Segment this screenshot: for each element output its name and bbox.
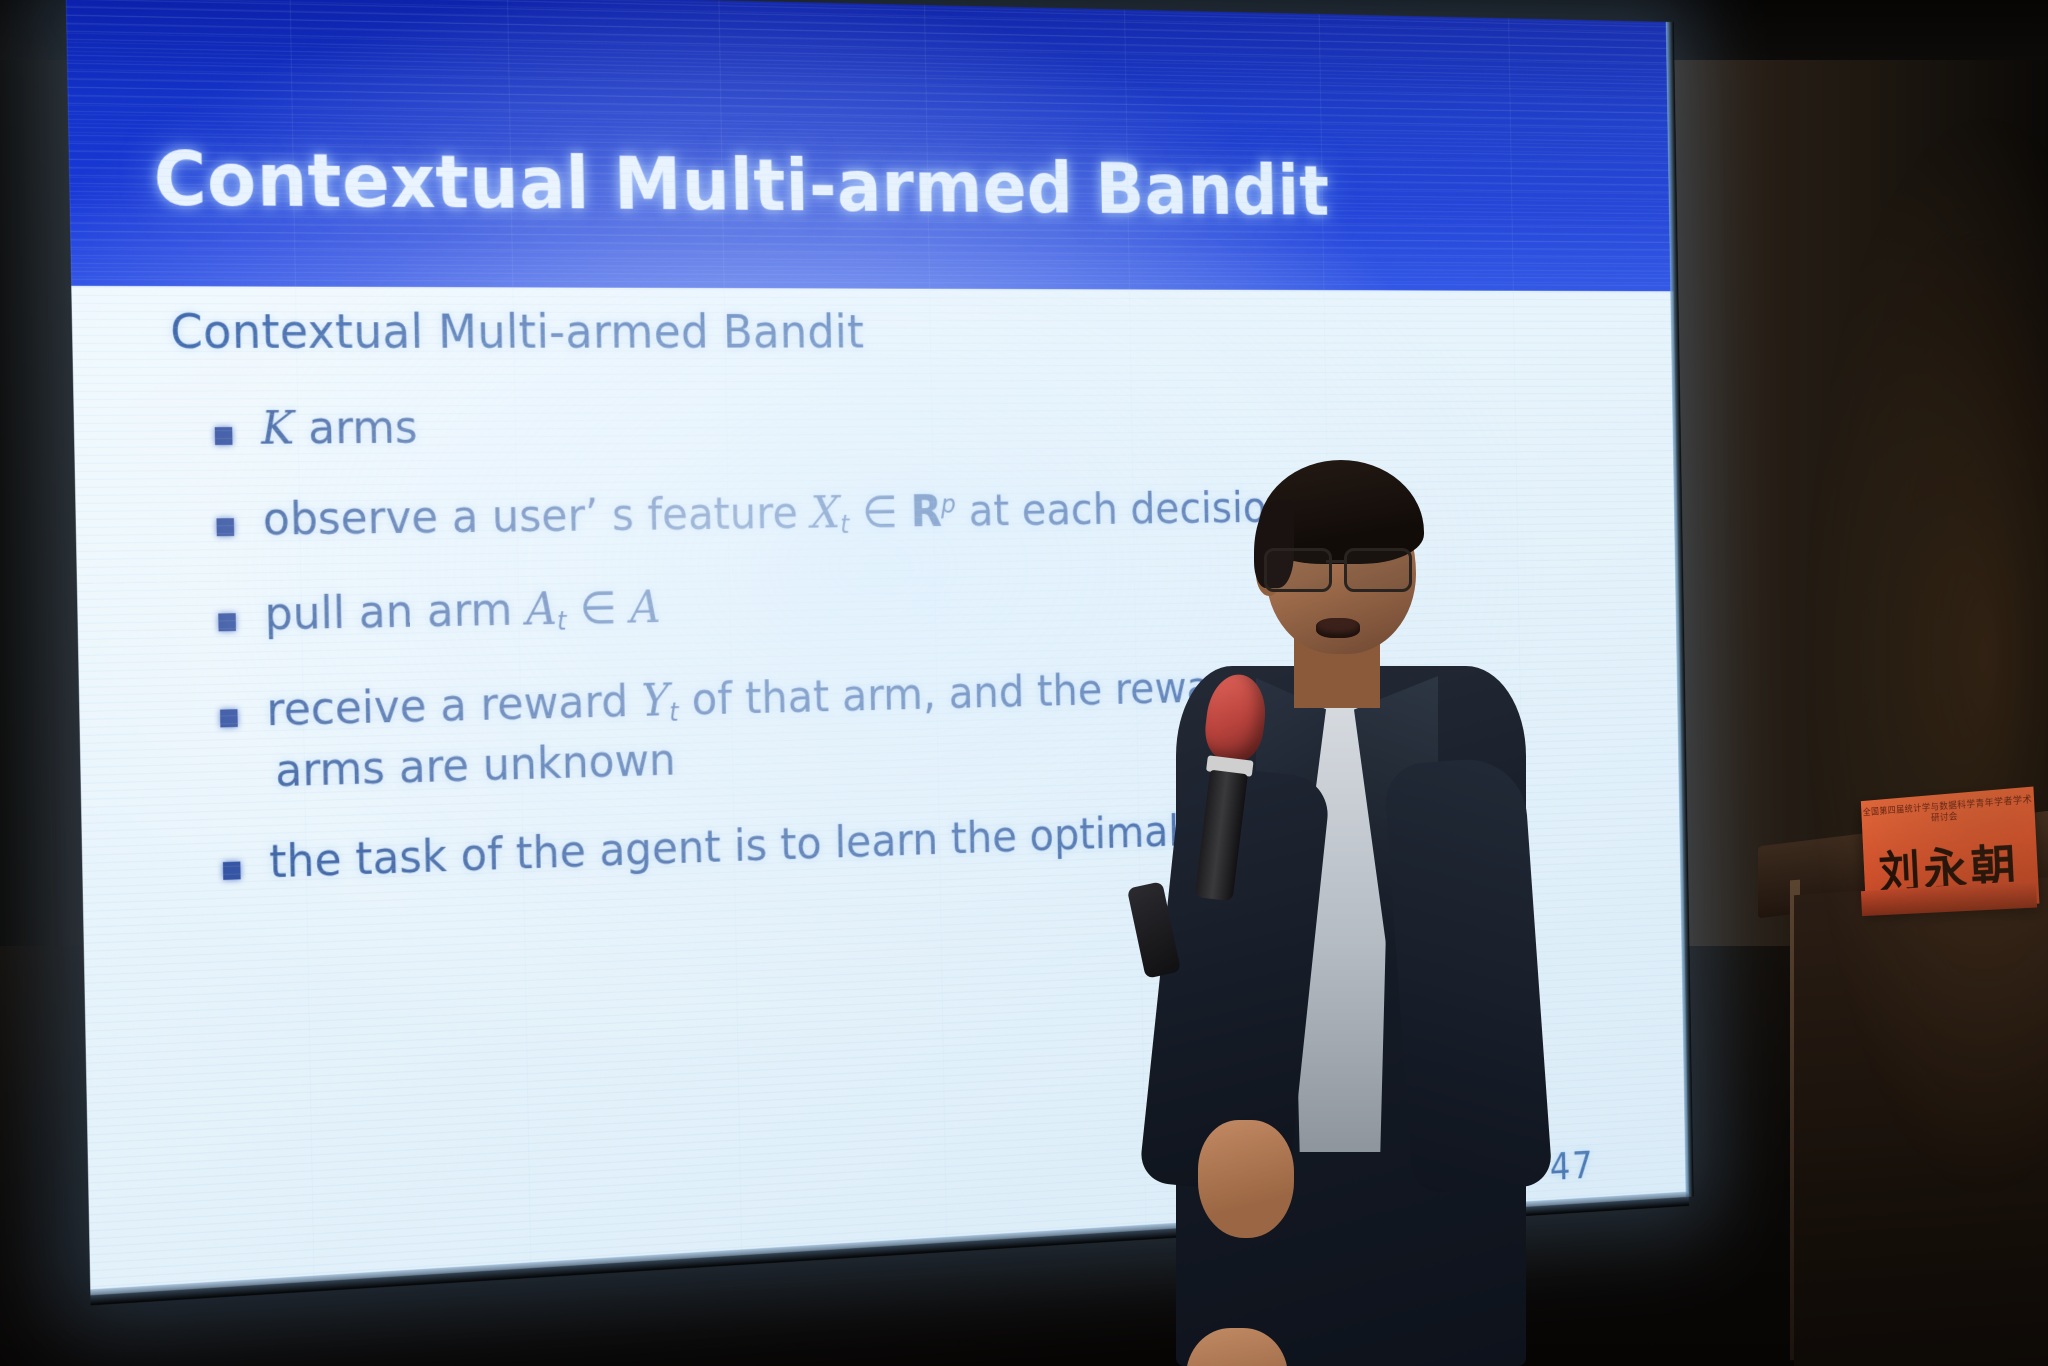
speaker-figure [1148, 470, 1568, 1366]
bullet-text-fragment: A [630, 581, 661, 634]
bullet-square-icon [215, 427, 233, 445]
speaker-arm-right [1383, 756, 1553, 1195]
bullet-text-fragment: A [525, 583, 557, 636]
bullet-text-fragment: p [941, 490, 956, 519]
bullet-text-fragment: ∈ [566, 581, 631, 634]
eyeglass-bridge [1326, 560, 1346, 563]
bullet-text-fragment: observe a user’ s feature [262, 487, 811, 546]
bullet-text-fragment: ∈ [849, 486, 911, 538]
bullet-text-fragment: R [910, 485, 941, 536]
bullet-text-fragment: K [261, 401, 295, 455]
bullet-square-icon [216, 518, 234, 536]
eyeglasses-icon [1258, 544, 1424, 592]
bullet-text-fragment: pull an arm [264, 583, 526, 641]
microphone-head [1202, 671, 1270, 763]
bullet-square-icon [223, 862, 241, 880]
slide-subheading: Contextual Multi-armed Bandit [170, 304, 865, 360]
nameplate-event-title: 全国第四届统计学与数据科学青年学者学术研讨会 [1861, 795, 2035, 830]
speaker-hand-holding-microphone [1198, 1120, 1294, 1238]
eyeglass-lens-left [1264, 548, 1332, 592]
bullet-square-icon [218, 614, 236, 632]
bullet-k-arms: K arms [210, 399, 1636, 451]
podium-front-panel [1794, 877, 2048, 1366]
eyeglass-lens-right [1344, 548, 1412, 592]
presentation-scene: Contextual Multi-armed Bandit Contextual… [0, 0, 2048, 1366]
microphone-body [1195, 770, 1248, 902]
bullet-text-fragment: receive a reward [266, 674, 642, 736]
bullet-text-fragment: X [810, 486, 840, 538]
bullet-text-fragment: arms [294, 401, 418, 455]
bullet-square-icon [220, 709, 238, 727]
bullet-line: pull an arm At ∈ A [264, 581, 661, 641]
bullet-text-fragment: t [557, 607, 567, 636]
bullet-text-fragment: t [669, 698, 679, 727]
slide-title: Contextual Multi-armed Bandit [153, 137, 1330, 231]
speaker-mouth [1316, 618, 1360, 638]
bullet-text-fragment: Y [641, 674, 670, 727]
bullet-line: K arms [261, 401, 418, 455]
